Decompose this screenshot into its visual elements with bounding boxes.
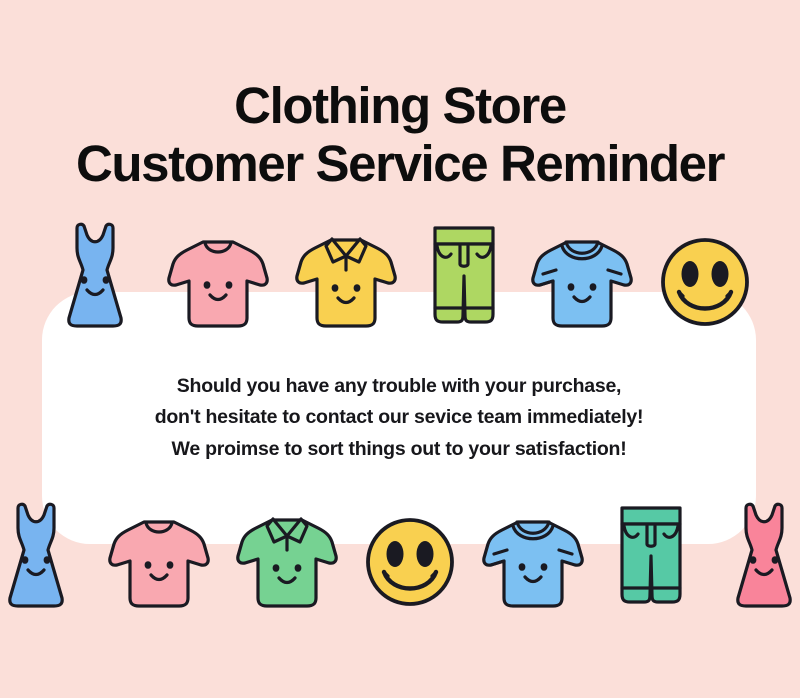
dress-icon <box>716 498 800 610</box>
message-line-3: We proimse to sort things out to your sa… <box>172 434 627 466</box>
polo-shirt-icon <box>293 226 399 330</box>
smiley-face-icon <box>657 234 753 330</box>
ringer-tshirt-icon <box>529 230 635 330</box>
poster-canvas: Clothing Store Customer Service Reminder <box>0 0 800 698</box>
smiley-face-icon <box>362 514 458 610</box>
pants-icon <box>608 500 694 610</box>
page-title: Clothing Store Customer Service Reminder <box>0 80 800 190</box>
tshirt-icon <box>165 230 271 330</box>
icon-row-bottom <box>0 498 800 610</box>
ringer-tshirt-icon <box>480 510 586 610</box>
title-line-2: Customer Service Reminder <box>0 138 800 190</box>
message-line-2: don't hesitate to contact our sevice tea… <box>155 402 644 434</box>
message-line-1: Should you have any trouble with your pu… <box>177 371 621 403</box>
pants-icon <box>421 220 507 330</box>
tshirt-icon <box>106 510 212 610</box>
dress-icon <box>0 498 84 610</box>
title-line-1: Clothing Store <box>0 80 800 132</box>
dress-icon <box>47 218 143 330</box>
polo-shirt-icon <box>234 506 340 610</box>
icon-row-top <box>0 218 800 330</box>
